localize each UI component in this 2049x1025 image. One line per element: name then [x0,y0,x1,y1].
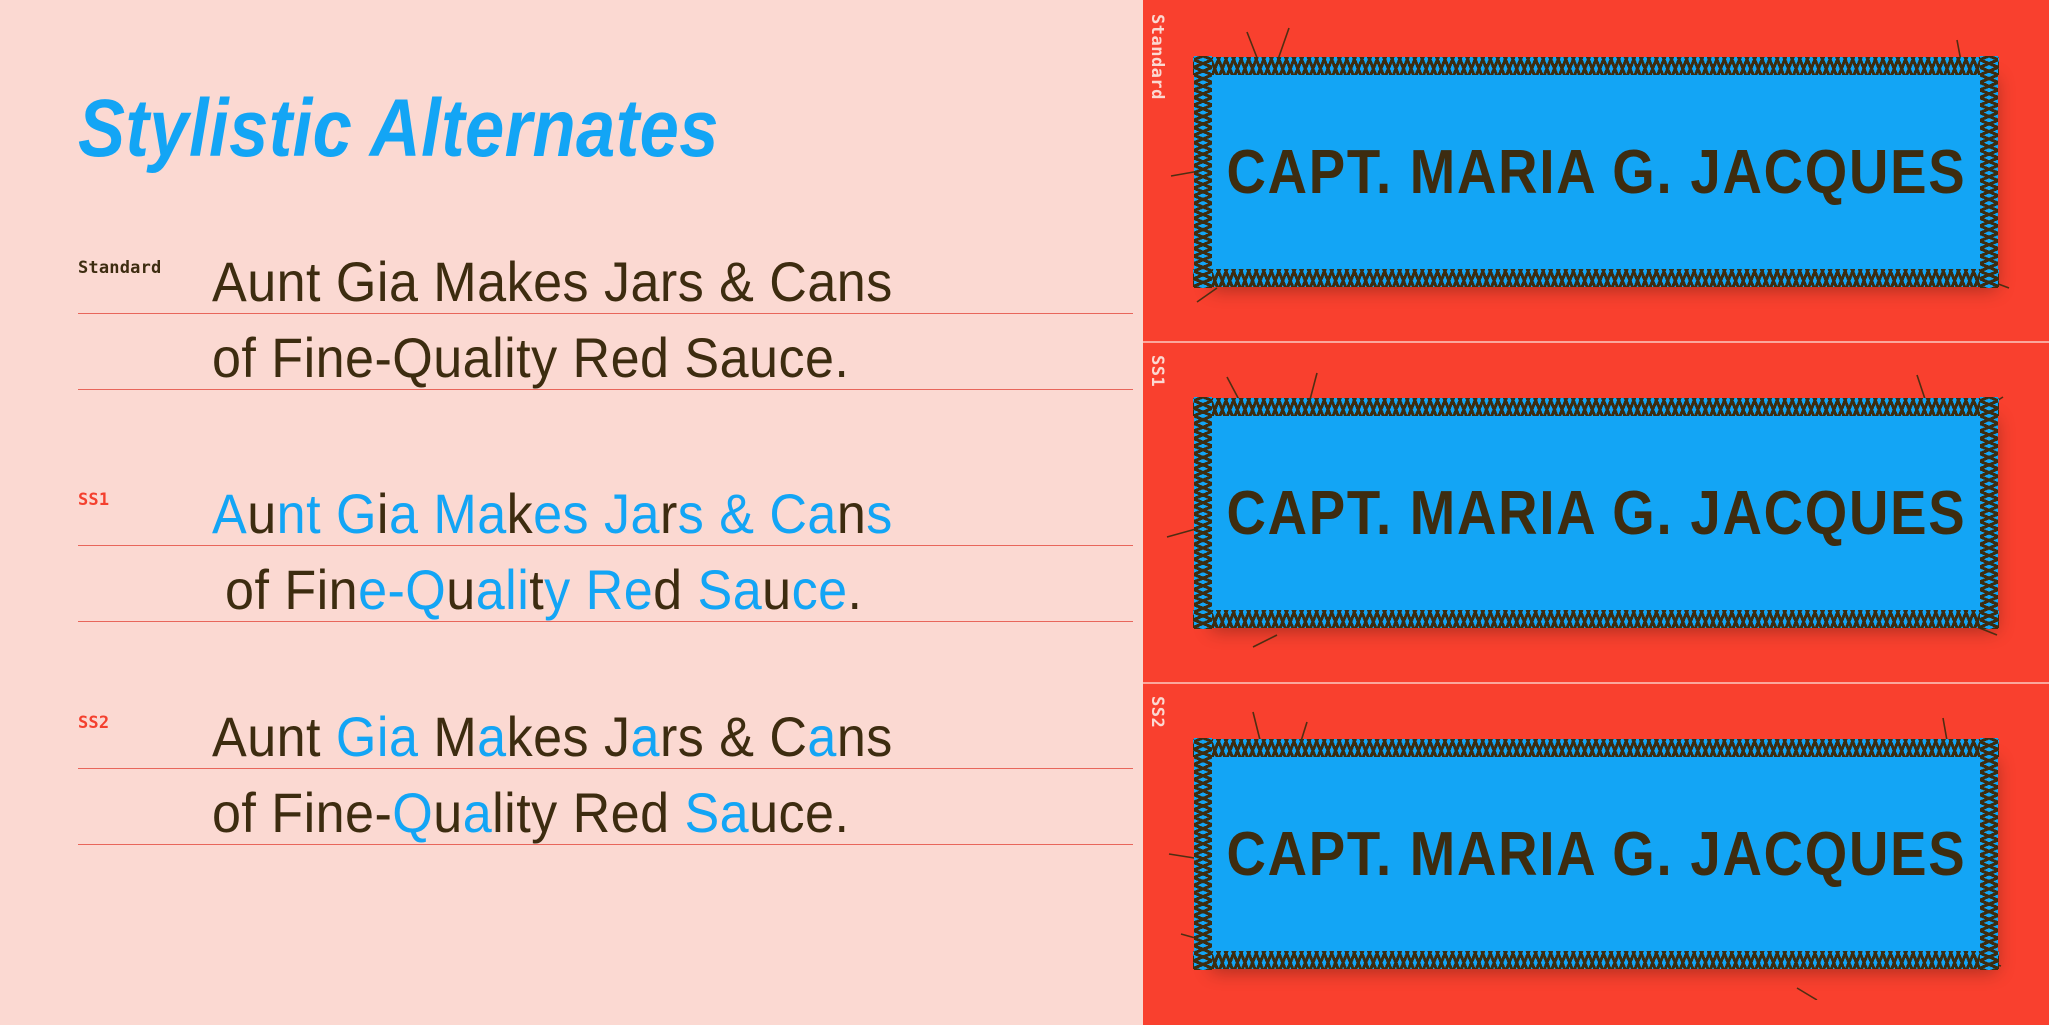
patch-row-label-ss1: SS1 [1147,355,1167,387]
patch-body: CAPT. MARIA G. JACQUES [1203,407,1989,619]
patch-row-ss2: SS2 CAPT. MARIA G. JACQUES [1143,682,2049,1023]
sample-text-standard: Aunt Gia Makes Jars & Cans of Fine-Quali… [212,244,893,396]
patch-text: CAPT. MARIA G. JACQUES [1226,478,1966,549]
patch-row-standard: Standard CAPT. MARIA G. JACQU [1143,0,2049,341]
patch-row-ss1: SS1 CAPT. MARIA G. JACQUES [1143,341,2049,682]
text-run: Aunt [212,705,336,768]
sample-label-ss1: SS1 [78,490,109,510]
text-run: a [631,705,660,768]
text-run: A [212,482,247,545]
patch-body: CAPT. MARIA G. JACQUES [1203,66,1989,278]
text-run: es [533,482,604,545]
patch-text: CAPT. MARIA G. JACQUES [1226,819,1966,890]
stitch-border-left [1194,56,1212,288]
text-run: k [507,482,534,545]
stitch-border-top [1193,739,1999,757]
text-run: Gi [336,705,389,768]
text-run: d [653,558,697,621]
sample-label-standard: Standard [78,258,161,278]
sample-line-1: Aunt Gia Makes Jars & Cans [212,705,893,768]
stitch-border-top [1193,57,1999,75]
text-run: kes J [507,705,631,768]
text-run: of Fine- [212,781,392,844]
page-title: Stylistic Alternates [78,88,719,170]
embroidered-patch: CAPT. MARIA G. JACQUES [1203,748,1989,960]
embroidered-patch: CAPT. MARIA G. JACQUES [1203,66,1989,278]
sample-text-ss2: Aunt Gia Makes Jars & Cans of Fine-Quali… [212,699,893,851]
text-run: ce [792,558,848,621]
text-run: of Fin [225,558,358,621]
embroidered-patch: CAPT. MARIA G. JACQUES [1203,407,1989,619]
text-run: a [477,705,506,768]
text-run: s [866,482,893,545]
text-run: a [807,705,836,768]
sample-line-1: Aunt Gia Makes Jars & Cans [212,250,893,313]
right-patch-panel: Standard CAPT. MARIA G. JACQU [1133,0,2049,1025]
text-run: a [389,705,418,768]
text-run: n [837,482,866,545]
text-run: u [446,558,475,621]
text-run: i [377,482,389,545]
text-run: rs & C [660,705,807,768]
text-run: e-Q [358,558,446,621]
left-specimen-panel: Stylistic Alternates Standard Aunt Gia M… [0,0,1133,1025]
panel-edge-strip [1133,0,1143,1025]
text-run: Ca [769,482,837,545]
sample-line-2: of Fine-Quality Red Sauce. [212,775,893,851]
text-run: uce. [749,781,849,844]
patch-row-label-standard: Standard [1147,14,1167,100]
text-run: Ma [433,482,506,545]
stitch-border-top [1193,398,1999,416]
text-run: of Fine-Quality Red Sauce. [212,326,849,389]
patch-row-label-ss2: SS2 [1147,696,1167,728]
text-run: u [762,558,791,621]
text-run: nt [277,482,336,545]
text-run: Aunt Gia Makes Jars & Cans [212,250,893,313]
text-run: t [529,558,544,621]
sample-text-ss1: Aunt Gia Makes Jars & Cans of Fine-Quali… [212,476,893,628]
text-run: u [247,482,276,545]
text-run: Sa [698,558,763,621]
text-run: lity Red [492,781,684,844]
text-run: u [433,781,462,844]
text-run: s & [678,482,770,545]
text-run: li [505,558,529,621]
specimen-spread: Stylistic Alternates Standard Aunt Gia M… [0,0,2049,1025]
text-run: M [418,705,477,768]
sample-line-2: of Fine-Quality Red Sauce. [212,552,893,628]
stitch-border-left [1194,738,1212,970]
sample-line-2: of Fine-Quality Red Sauce. [212,320,893,396]
text-run: . [848,558,863,621]
text-run: a [476,558,505,621]
sample-line-1: Aunt Gia Makes Jars & Cans [212,482,893,545]
sample-label-ss2: SS2 [78,713,109,733]
text-run: Ja [604,482,660,545]
text-run: e [624,558,653,621]
patch-body: CAPT. MARIA G. JACQUES [1203,748,1989,960]
text-run: a [463,781,492,844]
text-run: a [389,482,433,545]
text-run: Q [392,781,433,844]
text-run: G [336,482,377,545]
patch-text: CAPT. MARIA G. JACQUES [1226,137,1966,208]
text-run: Sa [684,781,749,844]
stitch-border-left [1194,397,1212,629]
text-run: ns [837,705,893,768]
text-run: r [660,482,678,545]
text-run: y R [544,558,624,621]
